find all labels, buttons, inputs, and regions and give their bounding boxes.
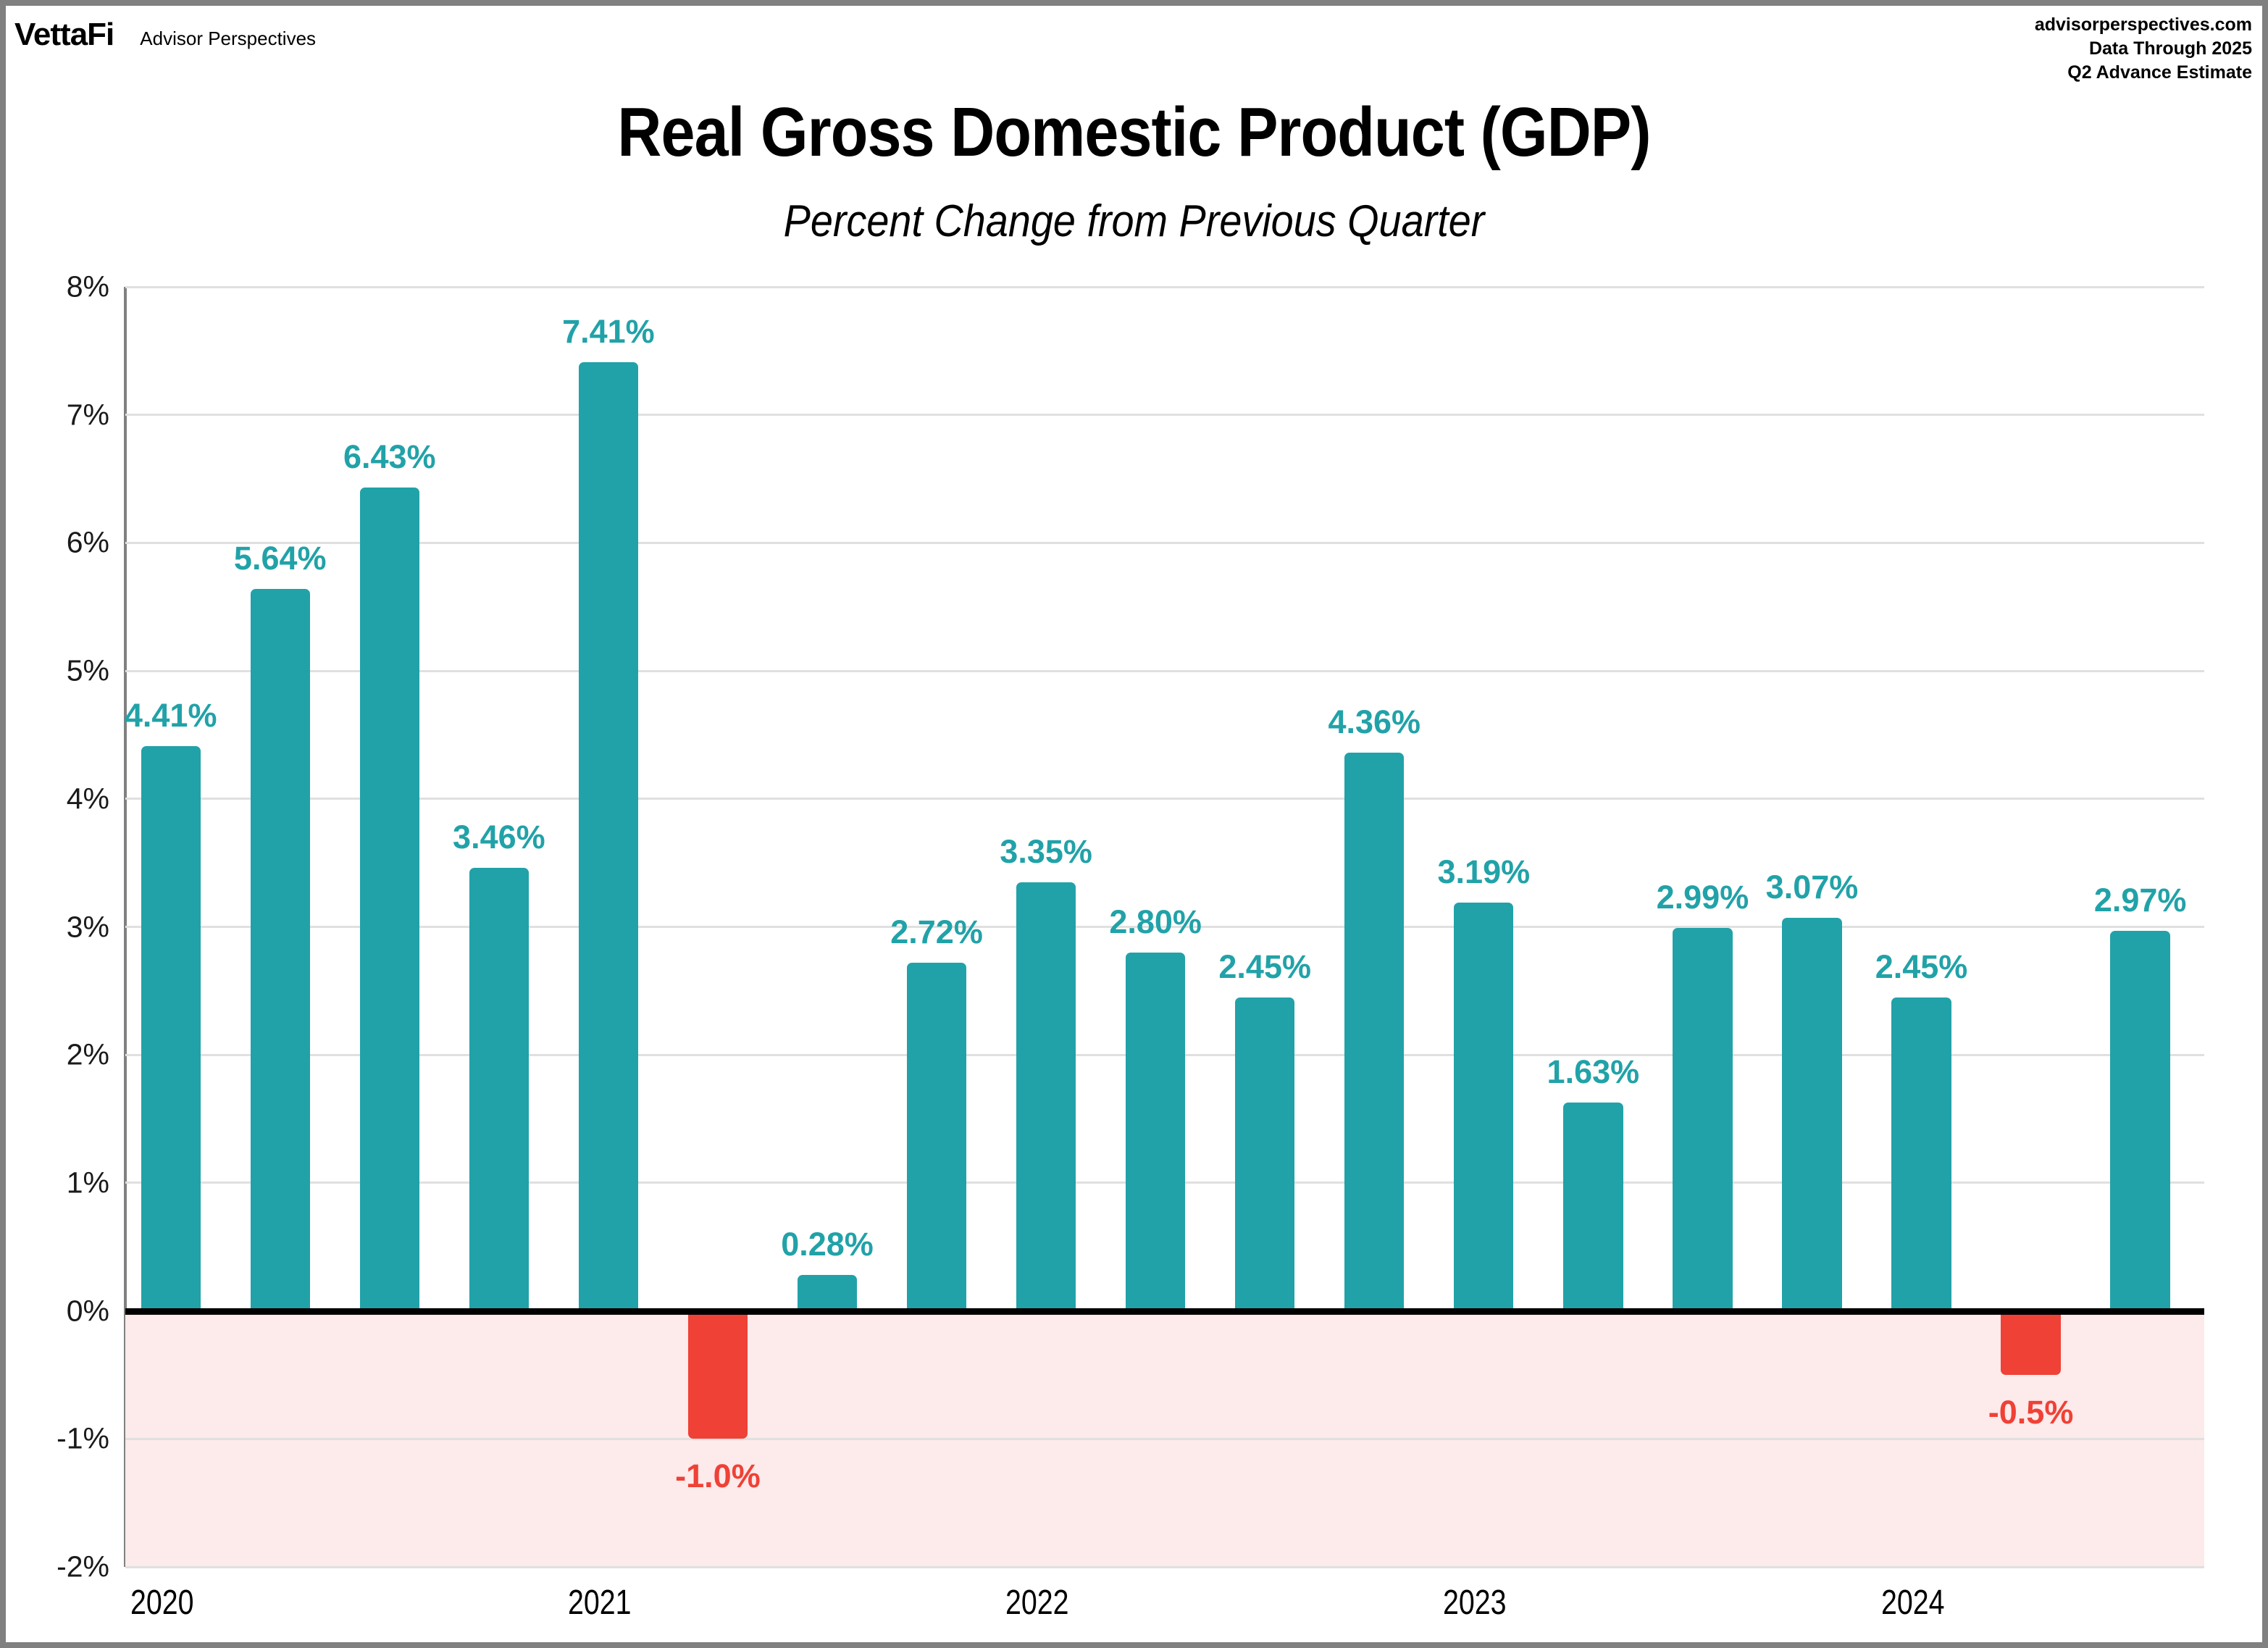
bar-value-label: 2.97%	[2094, 882, 2187, 919]
bar-value-label: 6.43%	[343, 438, 436, 476]
bar[interactable]	[1344, 753, 1404, 1310]
gridline	[125, 670, 2204, 672]
bar[interactable]	[1673, 928, 1732, 1310]
bar-value-label: 3.46%	[453, 819, 545, 856]
bar-value-label: 3.07%	[1766, 869, 1859, 906]
bar[interactable]	[1126, 953, 1185, 1311]
bar[interactable]	[688, 1311, 748, 1439]
bar-value-label: 5.64%	[234, 540, 327, 577]
bar-value-label: 1.63%	[1547, 1053, 1640, 1091]
y-axis-tick-label: 5%	[6, 654, 109, 688]
x-axis-tick-label: 2021	[568, 1583, 632, 1623]
gridline	[125, 1438, 2204, 1440]
y-axis-tick-label: 2%	[6, 1038, 109, 1072]
x-axis-tick-label: 2023	[1443, 1583, 1507, 1623]
bar-value-label: 2.80%	[1109, 903, 1202, 941]
bar[interactable]	[907, 963, 966, 1311]
bar[interactable]	[141, 746, 201, 1310]
gridline	[125, 798, 2204, 800]
y-axis-tick-label: 4%	[6, 782, 109, 816]
bar[interactable]	[1782, 918, 1841, 1310]
bar-value-label: -0.5%	[1988, 1394, 2074, 1431]
bar-value-label: 2.45%	[1218, 948, 1311, 986]
bar-value-label: 0.28%	[781, 1226, 874, 1263]
bar[interactable]	[360, 488, 419, 1310]
y-axis-tick-label: 7%	[6, 398, 109, 432]
bar-value-label: 4.41%	[125, 697, 217, 735]
y-axis-tick-label: 0%	[6, 1294, 109, 1328]
bar[interactable]	[2110, 931, 2169, 1311]
y-axis-tick-label: 8%	[6, 270, 109, 304]
bar[interactable]	[1891, 997, 1951, 1311]
bar-value-label: 3.19%	[1438, 853, 1531, 891]
gridline	[125, 1566, 2204, 1568]
bar[interactable]	[251, 589, 310, 1311]
bar[interactable]	[1454, 903, 1513, 1311]
chart-page: VettaFi Advisor Perspectives advisorpers…	[6, 6, 2262, 1642]
bar-value-label: -1.0%	[675, 1457, 761, 1495]
x-axis-tick-label: 2022	[1005, 1583, 1069, 1623]
bar-value-label: 4.36%	[1328, 703, 1420, 741]
bar-value-label: 2.45%	[1875, 948, 1968, 986]
gdp-bar-chart: 8%7%6%5%4%3%2%1%0%-1%-2%4.41%5.64%6.43%3…	[6, 6, 2262, 1642]
y-axis-tick-label: -2%	[6, 1550, 109, 1584]
gridline	[125, 542, 2204, 544]
bar-value-label: 2.72%	[890, 913, 983, 951]
bar[interactable]	[469, 868, 529, 1310]
y-axis-tick-label: -1%	[6, 1422, 109, 1456]
x-axis-tick-label: 2024	[1881, 1583, 1945, 1623]
zero-line	[125, 1308, 2204, 1315]
bar-value-label: 2.99%	[1657, 879, 1749, 916]
y-axis-tick-label: 1%	[6, 1166, 109, 1200]
bar[interactable]	[1016, 882, 1076, 1311]
bar-value-label: 7.41%	[562, 313, 655, 351]
y-axis-tick-label: 3%	[6, 910, 109, 944]
y-axis-tick-label: 6%	[6, 526, 109, 560]
bar[interactable]	[1563, 1103, 1623, 1311]
bar[interactable]	[1235, 997, 1294, 1311]
bar[interactable]	[798, 1275, 857, 1310]
gridline	[125, 286, 2204, 288]
bar-value-label: 3.35%	[1000, 833, 1092, 871]
bar[interactable]	[579, 362, 638, 1310]
gridline	[125, 414, 2204, 416]
bar[interactable]	[2001, 1311, 2060, 1375]
x-axis-tick-label: 2020	[130, 1583, 194, 1623]
